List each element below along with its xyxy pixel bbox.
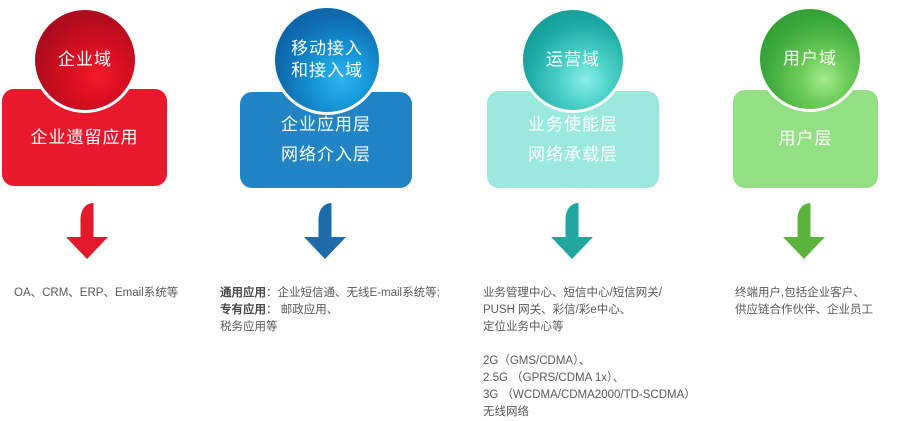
domain-circle-label: 移动接入 和接入域 xyxy=(291,38,363,82)
domain-circle-operation: 运营域 xyxy=(520,7,626,113)
domain-circle-user: 用户域 xyxy=(757,6,863,112)
caption-line: OA、CRM、ERP、Email系统等 xyxy=(14,285,178,302)
caption-enterprise: OA、CRM、ERP、Email系统等 xyxy=(14,285,178,302)
arrow-down-enterprise xyxy=(58,200,120,262)
caption-line: 专有应用： 邮政应用、 xyxy=(220,302,440,319)
layer-label: 企业遗留应用 xyxy=(31,123,139,153)
domain-architecture-diagram: 企业遗留应用 企业域 OA、CRM、ERP、Email系统等 企业应用层 网络介… xyxy=(0,0,900,404)
domain-circle-label: 企业域 xyxy=(58,49,112,71)
arrow-down-user xyxy=(775,200,837,262)
caption-value: ： 邮政应用、 xyxy=(266,304,338,316)
caption-line: 2.5G （GPRS/CDMA 1x）、 xyxy=(483,370,696,387)
caption-block-networks: 2G（GMS/CDMA）、 2.5G （GPRS/CDMA 1x）、 3G （W… xyxy=(483,353,696,421)
arrow-down-operation xyxy=(543,200,605,262)
arrow-down-mobile-access xyxy=(296,200,358,262)
layer-label: 业务使能层 xyxy=(528,110,618,140)
caption-line: 供应链合作伙伴、企业员工 xyxy=(735,302,873,319)
caption-line: 定位业务中心等 xyxy=(483,319,696,336)
caption-label: 通用应用 xyxy=(220,287,266,299)
domain-circle-label: 运营域 xyxy=(546,49,600,71)
caption-operation: 业务管理中心、短信中心/短信网关/ PUSH 网关、彩信/彩e中心、 定位业务中… xyxy=(483,285,696,421)
layer-label: 网络承载层 xyxy=(528,140,618,170)
caption-block-services: 业务管理中心、短信中心/短信网关/ PUSH 网关、彩信/彩e中心、 定位业务中… xyxy=(483,285,696,336)
caption-line: 税务应用等 xyxy=(220,319,440,336)
caption-spacer xyxy=(483,336,696,353)
caption-mobile-access: 通用应用：企业短信通、无线E-mail系统等; 专有应用： 邮政应用、 税务应用… xyxy=(220,285,440,336)
caption-line: 业务管理中心、短信中心/短信网关/ xyxy=(483,285,696,302)
domain-circle-mobile-access: 移动接入 和接入域 xyxy=(272,5,382,115)
caption-line: 通用应用：企业短信通、无线E-mail系统等; xyxy=(220,285,440,302)
caption-user: 终端用户,包括企业客户、 供应链合作伙伴、企业员工 xyxy=(735,285,873,319)
caption-line: 3G （WCDMA/CDMA2000/TD-SCDMA） xyxy=(483,387,696,404)
caption-line: PUSH 网关、彩信/彩e中心、 xyxy=(483,302,696,319)
layer-label: 网络介入层 xyxy=(281,140,371,170)
caption-value: ：企业短信通、无线E-mail系统等; xyxy=(266,287,440,299)
domain-circle-enterprise: 企业域 xyxy=(32,7,138,113)
layer-label: 用户层 xyxy=(779,124,833,154)
domain-circle-label: 用户域 xyxy=(783,48,837,70)
caption-line: 无线网络 xyxy=(483,404,696,421)
caption-line: 2G（GMS/CDMA）、 xyxy=(483,353,696,370)
caption-line: 终端用户,包括企业客户、 xyxy=(735,285,873,302)
caption-label: 专有应用 xyxy=(220,304,266,316)
